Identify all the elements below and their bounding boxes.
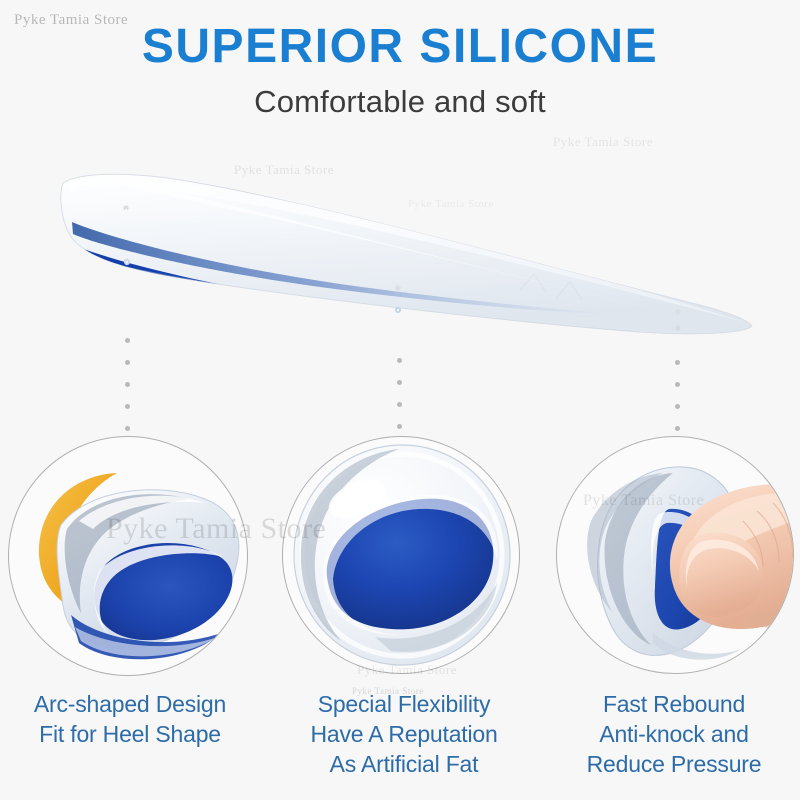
heel-cup-arc-photo xyxy=(9,437,248,676)
dotted-connector-3 xyxy=(674,360,681,431)
gel-disc-photo xyxy=(283,437,520,674)
silicone-heel-insole-illustration xyxy=(0,150,800,350)
feature-circle-fast-rebound xyxy=(556,436,794,674)
page-subtitle: Comfortable and soft xyxy=(0,84,800,120)
page-title: SUPERIOR SILICONE xyxy=(0,22,800,73)
dotted-connector-2 xyxy=(396,358,403,429)
feature-circle-special-flexibility xyxy=(282,436,520,674)
feature-caption-fast-rebound: Fast Rebound Anti-knock and Reduce Press… xyxy=(548,690,800,780)
feature-caption-special-flexibility: Special Flexibility Have A Reputation As… xyxy=(274,690,534,780)
feature-circle-arc-shaped-design xyxy=(8,436,248,676)
product-hero-image xyxy=(0,150,800,350)
hand-squeezing-insole-photo xyxy=(557,437,794,674)
feature-caption-arc-shaped-design: Arc-shaped Design Fit for Heel Shape xyxy=(0,690,260,750)
gel-pool xyxy=(94,543,232,640)
product-marketing-image: SUPERIOR SILICONE Comfortable and soft xyxy=(0,0,800,800)
watermark-upper-right: Pyke Tamia Store xyxy=(553,134,653,150)
dotted-connector-1 xyxy=(124,338,131,431)
